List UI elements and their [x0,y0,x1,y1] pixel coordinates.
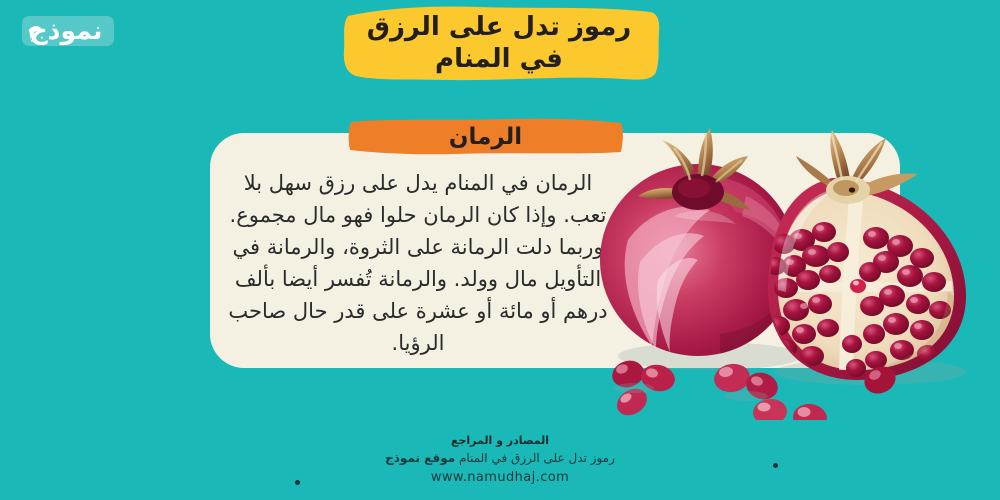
footer-heading: المصادر و المراجع [0,432,1000,449]
section-subtitle: الرمان [345,116,626,157]
decorative-dot-right [773,463,778,468]
footer-url[interactable]: www.namudhaj.com [0,468,1000,487]
site-logo[interactable]: نموذج [14,10,118,54]
bird-mark-icon [26,22,48,44]
footer-reference: رموز تدل على الرزق في المنام موقع نموذج [0,449,1000,468]
page-title: رموز تدل على الرزق في المنام [346,9,652,79]
decorative-dot-left [295,480,300,485]
footer: المصادر و المراجع رموز تدل على الرزق في … [0,432,1000,487]
infographic-poster: نموذج رموز تدل على الرزق في المنام الرما… [0,0,1000,500]
footer-reference-site: موقع نموذج [385,451,455,465]
title-banner: رموز تدل على الرزق في المنام [338,2,664,86]
subtitle-banner: الرمان [345,116,626,157]
footer-reference-text: رموز تدل على الرزق في المنام [455,451,615,465]
section-body-text: الرمان في المنام يدل على رزق سهل بلا تعب… [222,168,614,359]
